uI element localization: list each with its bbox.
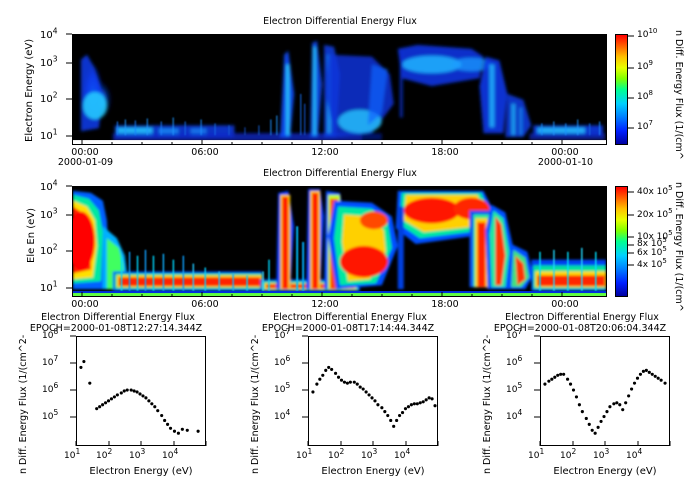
spectrogram-middle-plot bbox=[72, 186, 607, 297]
panel-spectrum-left: Electron Differential Energy Flux EPOCH=… bbox=[0, 306, 232, 492]
spectrum-middle-xtick-1: 102 bbox=[328, 451, 344, 461]
spectrum-left-ytick-1: 107 bbox=[42, 358, 58, 368]
panel-spectrogram-top: Electron Differential Energy Flux Electr… bbox=[0, 0, 697, 172]
spectrum-left-ytick-3: 105 bbox=[42, 412, 58, 422]
spectrum-middle-xtick-3: 104 bbox=[394, 451, 410, 461]
spectrum-right-xtick-1: 102 bbox=[560, 451, 576, 461]
y-axis-label-top: Electron Energy (eV) bbox=[24, 39, 35, 142]
x-tick-top-1: 06:00 bbox=[175, 147, 235, 158]
spectrum-left-ytick-0: 108 bbox=[42, 331, 58, 341]
spectrum-middle-xtick-2: 103 bbox=[361, 451, 377, 461]
spectrum-right-ytick-0: 107 bbox=[506, 331, 522, 341]
spectrum-middle-xtick-0: 101 bbox=[296, 451, 312, 461]
spectrum-right-xlabel: Electron Energy (eV) bbox=[540, 466, 670, 477]
colorbar-middle-label: n Diff. Energy Flux (1/(cm^ bbox=[673, 182, 684, 312]
spectrum-left-scatter bbox=[77, 337, 205, 445]
spectrum-middle-title: Electron Differential Energy Flux bbox=[244, 312, 456, 323]
spectrum-middle-ytick-2: 105 bbox=[274, 385, 290, 395]
colorbar-top-tick-0: 1010 bbox=[637, 30, 657, 40]
panel-spectrum-middle: Electron Differential Energy Flux EPOCH=… bbox=[232, 306, 464, 492]
spectrum-left-xlabel: Electron Energy (eV) bbox=[76, 466, 206, 477]
spectrogram-top-image bbox=[73, 35, 606, 144]
spectrum-right-xtick-2: 103 bbox=[593, 451, 609, 461]
x-tick-top-3: 18:00 bbox=[415, 147, 475, 158]
panel-title-middle: Electron Differential Energy Flux bbox=[190, 168, 490, 179]
colorbar-top bbox=[615, 34, 628, 145]
spectrum-left-ytick-2: 106 bbox=[42, 385, 58, 395]
spectrum-right-xtick-0: 101 bbox=[528, 451, 544, 461]
spectrum-middle-plot bbox=[308, 336, 438, 446]
spectrum-right-scatter bbox=[541, 337, 669, 445]
spectrum-right-ytick-1: 106 bbox=[506, 358, 522, 368]
y-tick-top-0: 104 bbox=[40, 30, 58, 41]
colorbar-mid-tick-0: 40x 105 bbox=[637, 187, 673, 197]
spectrum-right-ytick-2: 105 bbox=[506, 385, 522, 395]
spectrum-left-plot bbox=[76, 336, 206, 446]
y-tick-top-2: 102 bbox=[40, 94, 58, 105]
spectrum-right-title: Electron Differential Energy Flux bbox=[476, 312, 688, 323]
y-tick-mid-3: 101 bbox=[40, 283, 58, 294]
colorbar-top-label: n Diff. Energy Flux (1/(cm^ bbox=[673, 30, 684, 160]
panel-spectrogram-middle: Electron Differential Energy Flux Ele En… bbox=[0, 168, 697, 323]
spectrum-middle-subtitle: EPOCH=2000-01-08T17:14:44.344Z bbox=[238, 323, 458, 334]
colorbar-middle bbox=[615, 186, 628, 297]
colorbar-mid-tick-5: 4x 105 bbox=[637, 260, 667, 270]
spectrum-left-subtitle: EPOCH=2000-01-08T12:27:14.344Z bbox=[6, 323, 226, 334]
colorbar-top-tick-1: 109 bbox=[637, 62, 653, 72]
spectrum-left-ylabel: n Diff. Energy Flux (1/(cm^2- bbox=[18, 335, 29, 474]
spectrum-left-xtick-1: 102 bbox=[96, 451, 112, 461]
spectrum-right-xtick-3: 104 bbox=[626, 451, 642, 461]
panel-spectrum-right: Electron Differential Energy Flux EPOCH=… bbox=[464, 306, 697, 492]
spectrum-middle-ylabel: n Diff. Energy Flux (1/(cm^2- bbox=[250, 335, 261, 474]
spectrum-middle-ytick-0: 107 bbox=[274, 331, 290, 341]
y-tick-top-1: 103 bbox=[40, 58, 58, 69]
y-tick-mid-1: 103 bbox=[40, 210, 58, 221]
colorbar-mid-tick-1: 20x 105 bbox=[637, 210, 673, 220]
spectrum-left-xtick-0: 101 bbox=[64, 451, 80, 461]
colorbar-top-tick-3: 107 bbox=[637, 122, 653, 132]
colorbar-top-tick-2: 108 bbox=[637, 92, 653, 102]
spectrum-right-ytick-3: 104 bbox=[506, 412, 522, 422]
y-tick-top-3: 101 bbox=[40, 131, 58, 142]
spectrogram-top-plot bbox=[72, 34, 607, 145]
spectrum-middle-ytick-3: 104 bbox=[274, 412, 290, 422]
spectrum-left-title: Electron Differential Energy Flux bbox=[12, 312, 224, 323]
spectrum-right-ylabel: n Diff. Energy Flux (1/(cm^2- bbox=[482, 335, 493, 474]
y-tick-mid-0: 104 bbox=[40, 182, 58, 193]
x-tick-top-date-left: 2000-01-09 bbox=[48, 157, 123, 168]
spectrum-middle-ytick-1: 106 bbox=[274, 358, 290, 368]
spectrum-middle-xlabel: Electron Energy (eV) bbox=[308, 466, 438, 477]
spectrum-left-xtick-3: 104 bbox=[162, 451, 178, 461]
x-tick-top-date-right: 2000-01-10 bbox=[528, 157, 603, 168]
spectrum-middle-scatter bbox=[309, 337, 437, 445]
spectrum-right-plot bbox=[540, 336, 670, 446]
y-tick-mid-2: 102 bbox=[40, 246, 58, 257]
x-tick-top-2: 12:00 bbox=[295, 147, 355, 158]
spectrum-left-xtick-2: 103 bbox=[129, 451, 145, 461]
y-axis-label-middle: Ele En (eV) bbox=[26, 208, 37, 263]
spectrum-right-subtitle: EPOCH=2000-01-08T20:06:04.344Z bbox=[470, 323, 690, 334]
spectrogram-middle-image bbox=[73, 187, 606, 296]
panel-title-top: Electron Differential Energy Flux bbox=[190, 16, 490, 27]
